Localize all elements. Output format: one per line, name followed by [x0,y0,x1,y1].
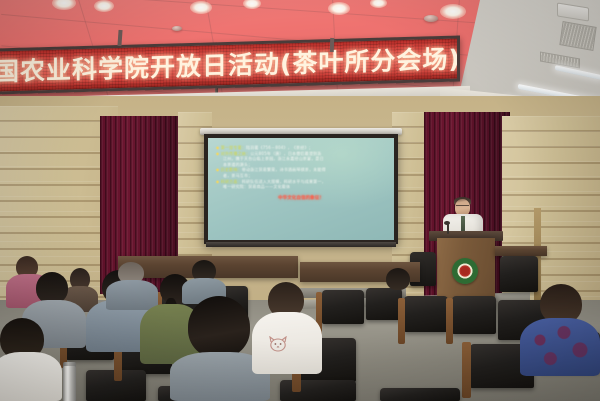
downlight-icon [440,4,466,19]
speaker-tie [461,216,465,231]
seat [404,296,448,332]
sprinkler-icon [172,26,182,31]
microphone-icon [447,224,449,234]
slide-line-body: 公元805年（唐），日本僧侣最澄到浙 [250,151,321,156]
slide-line-heading: 历史影响： [221,167,242,172]
projection-screen-surface: ◆第一部专著：陆羽著《756－804》，《茶经》；◆对外传播之始：公元805年（… [208,138,394,240]
seat [322,290,364,324]
stage-chair [500,256,538,292]
person-torso [0,352,62,401]
slide-bullet-icon: ◆ [216,151,219,156]
slide-line: 唯一研究院：贸易商品——文化载体 [216,184,386,190]
downlight-icon [94,0,114,12]
downlight-icon [190,1,212,14]
slide-line-body: 者，茶马互市； [223,173,252,178]
side-table [495,246,547,256]
conference-hall-photo: 国农业科学院开放日活动(茶叶所分会场) ◆第一部专著：陆羽著《756－804》，… [0,0,600,401]
seat-frame [462,342,471,398]
seat [452,296,496,334]
microphone-head-icon [444,221,450,225]
slide-line-body: 科研队伍进入大规模，科研水平与成果第一， [242,179,326,184]
slide-content: ◆第一部专著：陆羽著《756－804》，《茶经》；◆对外传播之始：公元805年（… [216,145,386,190]
slide-line-heading: 第一部专著： [221,145,246,150]
slide-line-body: 唯一研究院：贸易商品——文化载体 [223,184,290,189]
screen-bottom-bar [206,242,396,247]
seat-frame [398,298,405,344]
slide-line-body: 陆羽著《756－804》，《茶经》； [246,145,313,150]
institute-emblem-icon [452,258,478,284]
seat-frame [446,298,453,344]
sprinkler-icon [424,15,438,22]
slide-line-body: 江州，携于天台山临上茶园，浙江永嘉径山茶宴，是日 [223,156,324,161]
downlight-icon [328,2,350,15]
slide-line-heading: 科研方面： [221,179,242,184]
person-head [188,296,250,358]
slide-line-body: 带动浙江贸易繁荣，诗书酒画琴棋茶，未能得 [242,167,326,172]
slide-line-heading: 对外传播之始： [221,151,250,156]
seat [366,288,402,320]
projection-screen: ◆第一部专著：陆羽著《756－804》，《茶经》；◆对外传播之始：公元805年（… [204,134,398,244]
slide-bullet-icon: ◆ [216,179,219,184]
slide-bullet-icon: ◆ [216,145,219,150]
person-torso [106,280,158,310]
person-head [386,268,410,290]
banner-mount [330,38,334,52]
speaker-glasses-icon [456,205,469,209]
led-banner-text: 国农业科学院开放日活动(茶叶所分会场) [0,46,460,84]
slide-footer-text: 中华文化自信的象征！ [216,195,386,201]
seat [380,388,460,401]
thermos-flask [63,366,76,401]
cat-graphic-icon [268,336,288,353]
slide-bullet-icon: ◆ [216,167,219,172]
person-torso [520,318,600,376]
